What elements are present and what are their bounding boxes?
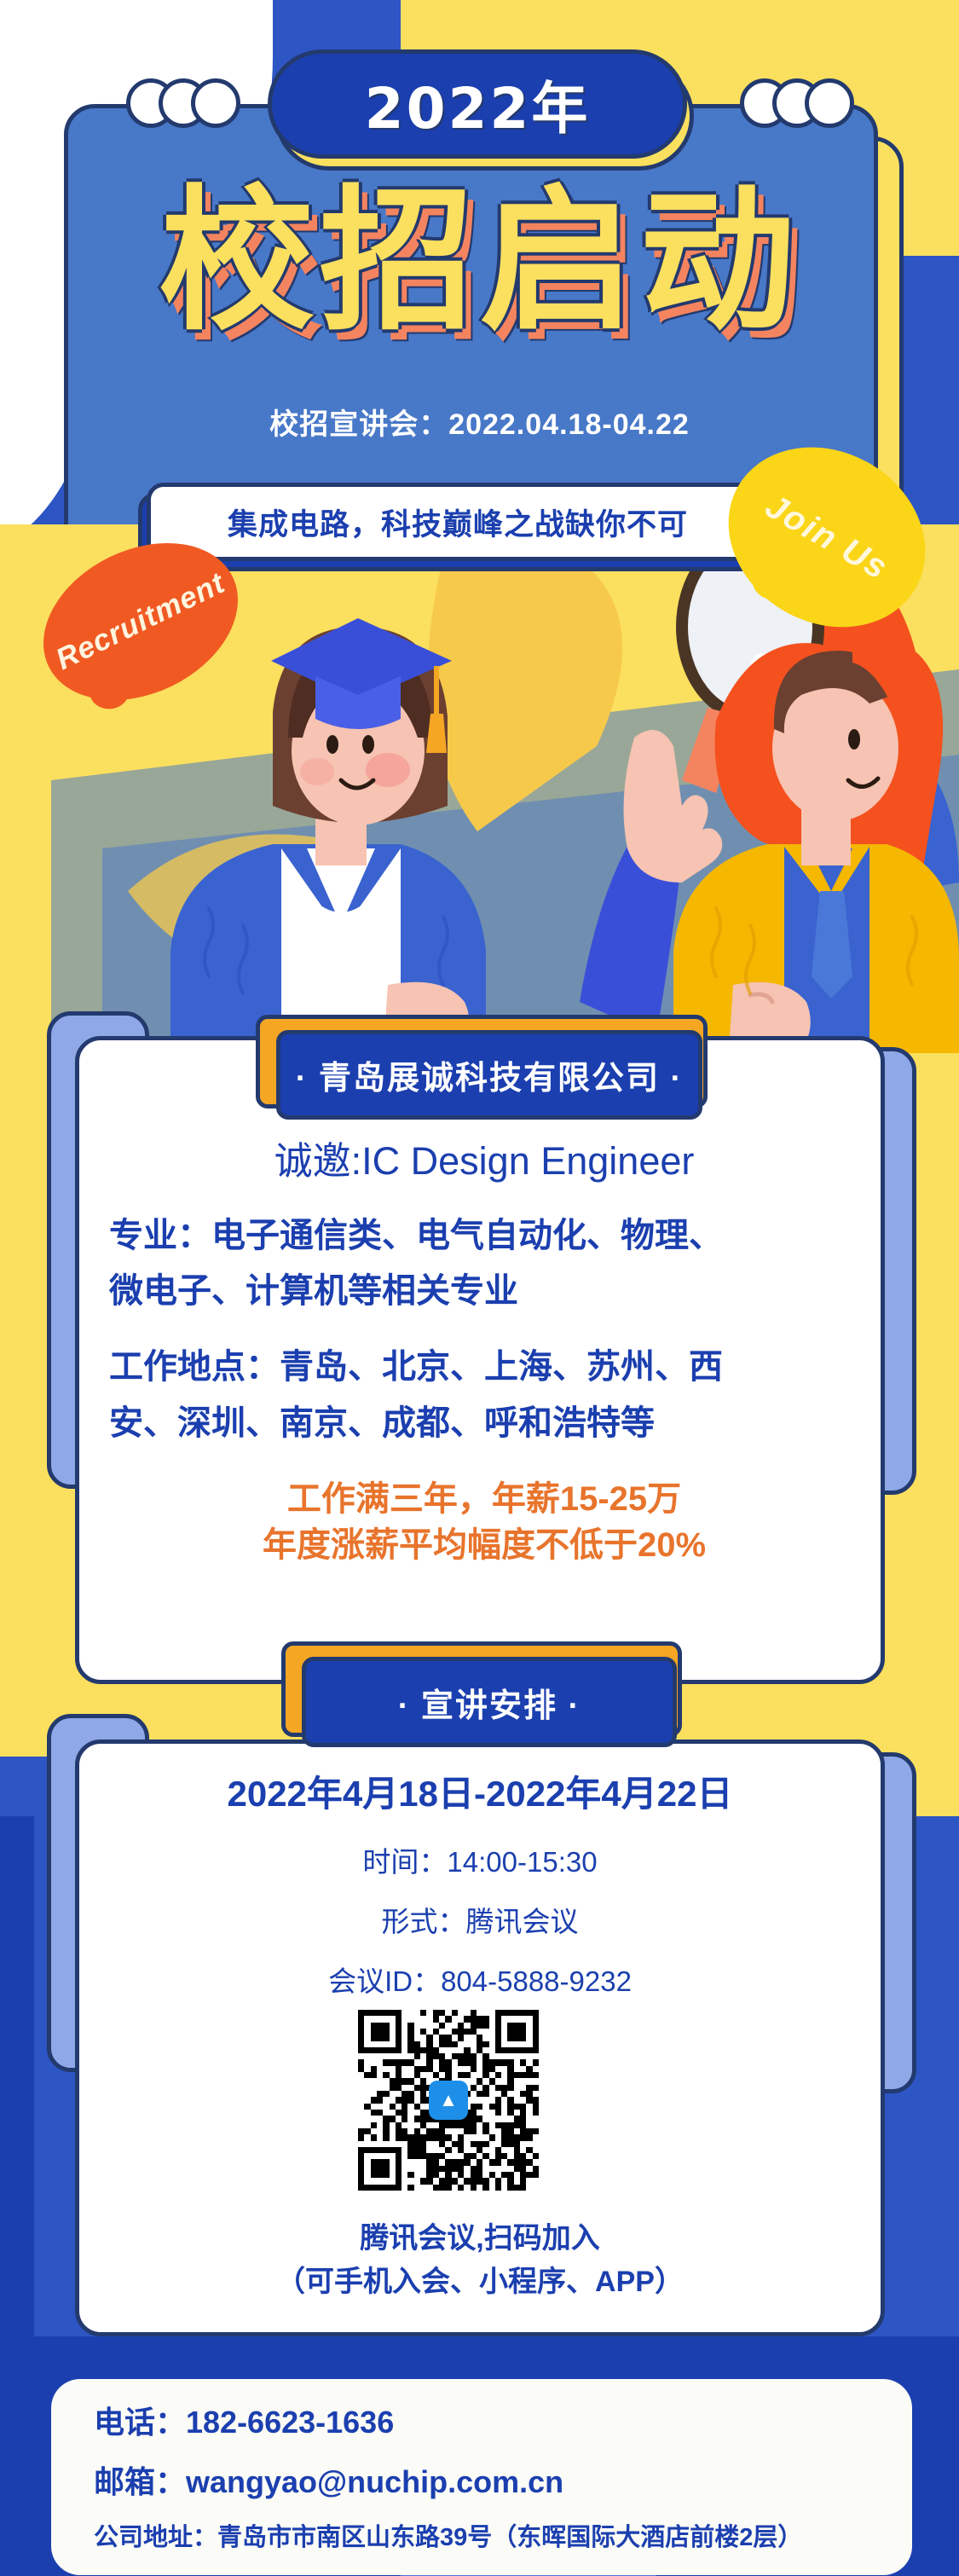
schedule-format: 形式：腾讯会议 [75,1899,885,1940]
schedule-ribbon-front: · 宣讲安排 · [302,1657,677,1747]
footer-phone[interactable]: 电话：182-6623-1636 [94,2398,878,2442]
job-details: 诚邀:IC Design Engineer 专业：电子通信类、电气自动化、物理、… [109,1130,859,1569]
job-major-line-2: 微电子、计算机等相关专业 [109,1268,859,1315]
schedule-ribbon-label: · 宣讲安排 · [398,1679,581,1726]
job-invite-line: 诚邀:IC Design Engineer [109,1130,859,1185]
company-ribbon: · 青岛展诚科技有限公司 · [256,1015,708,1117]
qr-caption-line-1: 腾讯会议,扫码加入 [75,2217,885,2261]
decoration-circle-icon [191,78,240,128]
join-us-bubble-label: Join Us [759,487,895,588]
qr-code-grid: ▲ [358,2010,539,2191]
job-salary-line-2: 年度涨薪平均幅度不低于20% [109,1522,859,1568]
slogan-bar: 集成电路，科技巅峰之战缺你不可 [147,483,769,561]
background-left-edge-strip [0,1816,34,2362]
schedule-meeting-id: 会议ID：804-5888-9232 [75,1959,885,2000]
recruitment-bubble-label: Recruitment [51,566,231,677]
job-salary-line-1: 工作满三年，年薪15-25万 [109,1476,859,1522]
schedule-time: 时间：14:00-15:30 [75,1839,885,1880]
schedule-ribbon: · 宣讲安排 · [281,1641,682,1752]
company-ribbon-front: · 青岛展诚科技有限公司 · [276,1030,702,1120]
page-title: 校招启动 [0,183,959,339]
company-name-label: · 青岛展诚科技有限公司 · [296,1051,683,1098]
year-badge: 2022年 [268,49,687,159]
job-major-line-1: 专业：电子通信类、电气自动化、物理、 [109,1213,859,1259]
schedule-details: 2022年4月18日-2022年4月22日 时间：14:00-15:30 形式：… [75,1765,885,2018]
qr-code[interactable]: ▲ [350,2001,547,2199]
job-location-block: 工作地点：青岛、北京、上海、苏州、西 安、深圳、南京、成都、呼和浩特等 [109,1344,859,1446]
recruitment-poster: 2022年 校招启动 校招宣讲会：2022.04.18-04.22 集成电路，科… [0,0,959,2576]
decoration-circle-icon [805,78,854,128]
job-salary-block: 工作满三年，年薪15-25万 年度涨薪平均幅度不低于20% [109,1476,859,1569]
job-location-line-2: 安、深圳、南京、成都、呼和浩特等 [109,1400,859,1447]
schedule-date: 2022年4月18日-2022年4月22日 [75,1765,885,1817]
footer-address: 公司地址：青岛市市南区山东路39号（东晖国际大酒店前楼2层） [94,2517,878,2553]
header-date-line: 校招宣讲会：2022.04.18-04.22 [0,401,959,443]
year-badge-label: 2022年 [365,63,591,145]
tencent-meeting-logo-icon: ▲ [429,2081,468,2120]
job-major-block: 专业：电子通信类、电气自动化、物理、 微电子、计算机等相关专业 [109,1213,859,1315]
job-location-line-1: 工作地点：青岛、北京、上海、苏州、西 [109,1344,859,1391]
slogan-label: 集成电路，科技巅峰之战缺你不可 [228,501,688,544]
footer-contact: 电话：182-6623-1636 邮箱：wangyao@nuchip.com.c… [94,2398,878,2568]
qr-caption-line-2: （可手机入会、小程序、APP） [75,2261,885,2304]
footer-email[interactable]: 邮箱：wangyao@nuchip.com.cn [94,2457,878,2502]
qr-caption: 腾讯会议,扫码加入 （可手机入会、小程序、APP） [75,2217,885,2304]
